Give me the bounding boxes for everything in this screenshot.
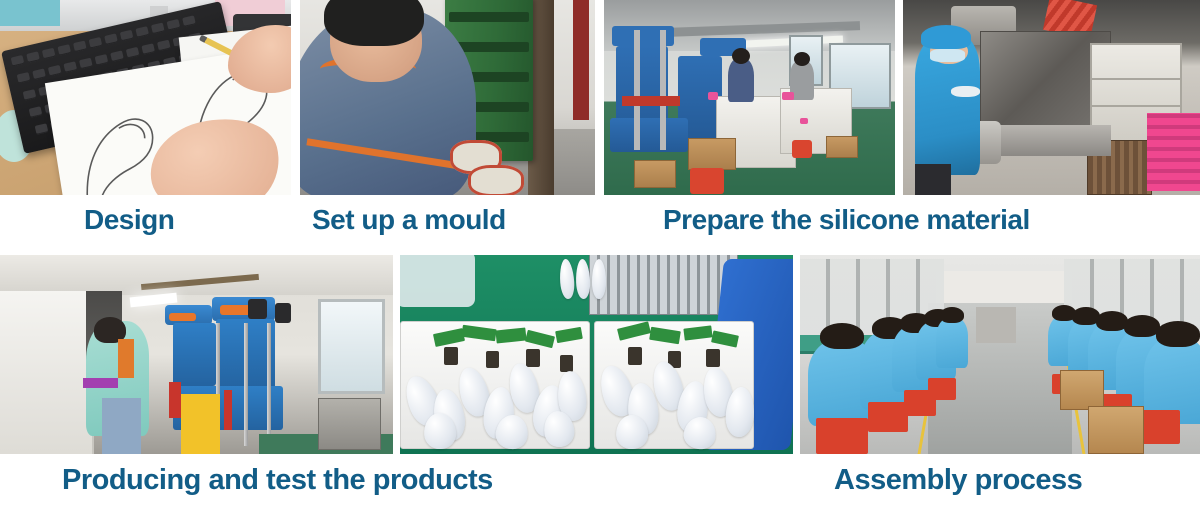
- hair-cap: [921, 25, 971, 48]
- caption-producing: Producing and test the products: [62, 466, 493, 495]
- worker-front: [728, 58, 754, 102]
- work-glove-right: [468, 165, 524, 195]
- parts-bag: [400, 255, 475, 307]
- photo-assembly[interactable]: [800, 255, 1200, 454]
- photo-mould[interactable]: [300, 0, 595, 195]
- caption-mould: Set up a mould: [312, 206, 506, 234]
- process-gallery: Design Set up a mould Prepare the silico…: [0, 0, 1200, 524]
- pink-tray-stack: [1147, 113, 1200, 191]
- carton-box: [1060, 370, 1104, 410]
- photo-testing[interactable]: [400, 255, 793, 454]
- photo-silicone-prep-b[interactable]: [903, 0, 1200, 195]
- supply-cart: [976, 307, 1016, 343]
- photo-silicone-prep-a[interactable]: [604, 0, 895, 195]
- background-worker: [118, 339, 134, 379]
- caption-silicone: Prepare the silicone material: [663, 206, 1030, 234]
- caption-assembly: Assembly process: [834, 466, 1082, 495]
- component-rack: [589, 255, 738, 315]
- window: [318, 299, 385, 395]
- photo-design[interactable]: [0, 0, 291, 195]
- red-stool: [816, 418, 868, 454]
- photo-producing[interactable]: [0, 255, 393, 454]
- face-mask: [930, 49, 966, 63]
- caption-design: Design: [84, 206, 174, 234]
